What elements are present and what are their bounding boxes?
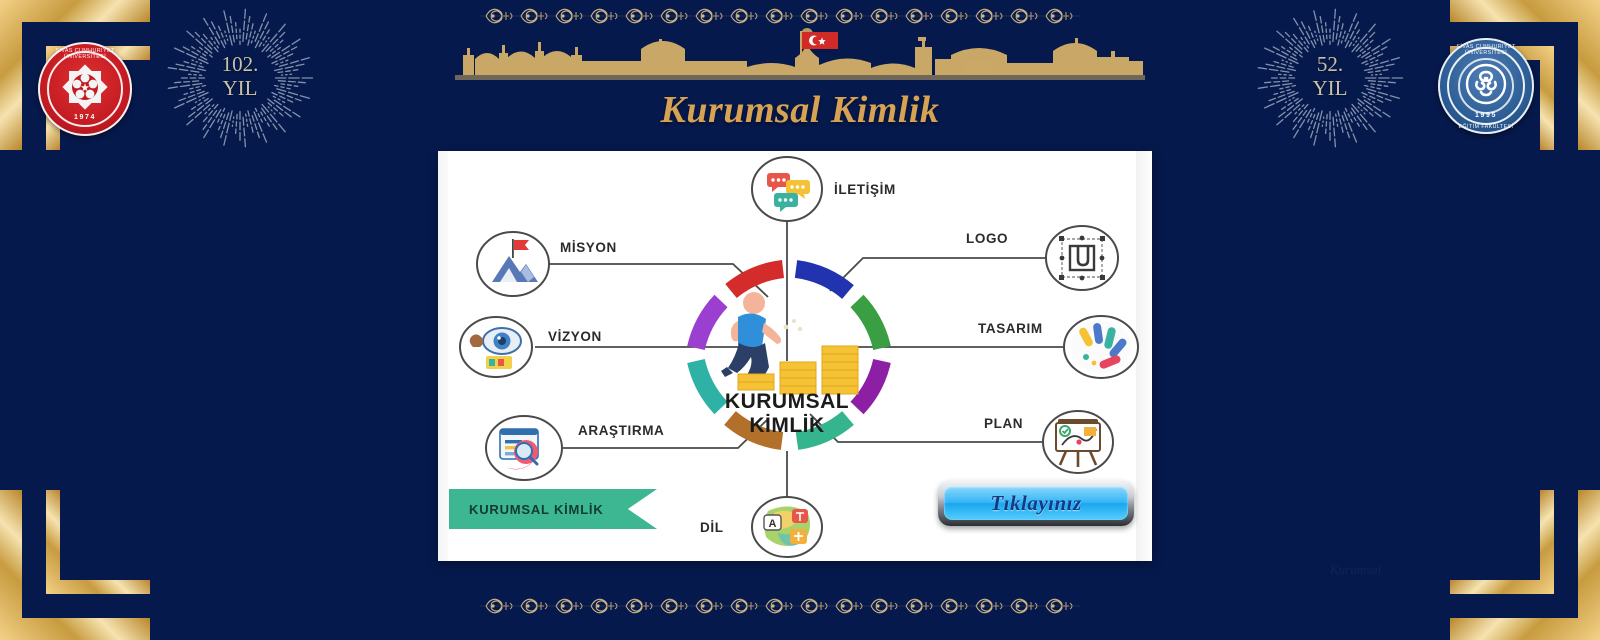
- node-dil: A DİL: [700, 497, 822, 557]
- presentation-slide: SİVAS CUMHURİYET ÜNİVERSİTESİ 1974 SİVAS…: [0, 0, 1600, 640]
- person-climbing-coins-illustration: [721, 292, 858, 394]
- kurumsal-kimlik-ribbon: KURUMSAL KİMLİK: [449, 489, 657, 529]
- node-label-misyon: MİSYON: [560, 240, 617, 255]
- node-label-iletisim: İLETİŞİM: [834, 182, 896, 197]
- watermark-text: Kurumsal: [1330, 562, 1381, 578]
- burst-left-number: 102.: [150, 52, 330, 76]
- diagram-center-line2: KİMLİK: [749, 414, 824, 437]
- corner-frame-bottom-left: [0, 490, 150, 640]
- burst-right-number: 52.: [1240, 52, 1420, 76]
- node-label-logo: LOGO: [966, 231, 1008, 246]
- ornament-band-top: [480, 5, 1080, 27]
- node-label-tasarim: TASARIM: [978, 321, 1043, 336]
- translate-icon: A: [764, 506, 810, 545]
- node-iletisim: İLETİŞİM: [752, 157, 896, 221]
- ribbon-label: KURUMSAL KİMLİK: [469, 502, 604, 517]
- seal-left-arc-text: SİVAS CUMHURİYET ÜNİVERSİTESİ: [38, 48, 132, 60]
- node-label-arastirma: ARAŞTIRMA: [578, 423, 664, 438]
- corner-frame-bottom-right: [1450, 490, 1600, 640]
- anniversary-burst-right: 52. YIL: [1240, 0, 1420, 170]
- node-label-plan: PLAN: [984, 416, 1023, 431]
- anniversary-burst-left: 102. YIL: [150, 0, 330, 170]
- page-title: Kurumsal Kimlik: [0, 88, 1600, 132]
- svg-text:A: A: [769, 518, 777, 530]
- seal-right-arc-text: SİVAS CUMHURİYET ÜNİVERSİTESİ: [1438, 44, 1534, 56]
- color-palette-icon: [1071, 321, 1131, 373]
- content-panel: KURUMSAL KİMLİK İ: [438, 151, 1152, 561]
- sivas-skyline-illustration: [455, 25, 1145, 80]
- node-label-dil: DİL: [700, 520, 724, 535]
- easel-board-icon: [1056, 419, 1100, 467]
- tiklayiniz-button[interactable]: Tıklayınız: [938, 480, 1134, 526]
- ornament-band-bottom: [480, 595, 1080, 617]
- diagram-center-line1: KURUMSAL: [725, 390, 849, 413]
- tiklayiniz-button-face[interactable]: Tıklayınız: [944, 486, 1128, 520]
- node-label-vizyon: VİZYON: [548, 329, 602, 344]
- tiklayiniz-button-label: Tıklayınız: [990, 491, 1081, 516]
